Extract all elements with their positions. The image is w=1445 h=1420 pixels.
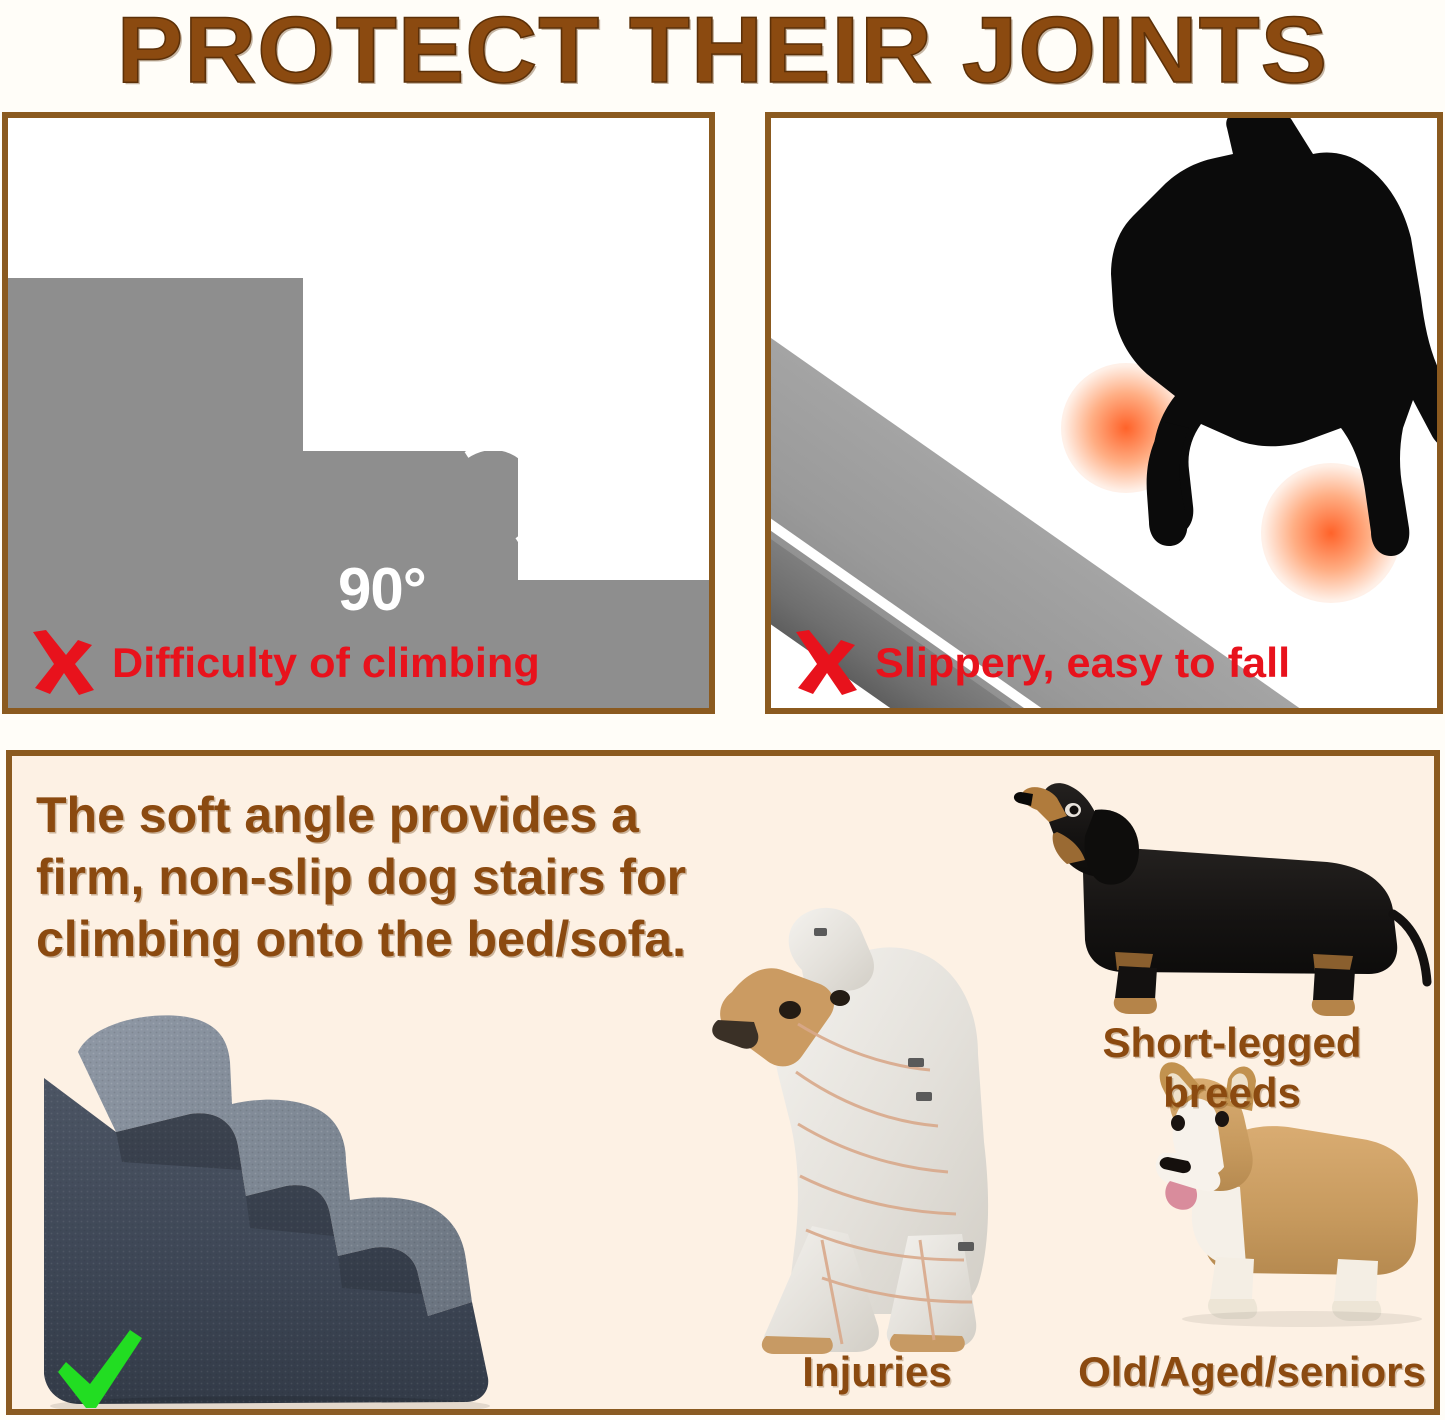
warning-label-slippery: Slippery, easy to fall <box>875 641 1290 685</box>
solution-headline: The soft angle provides a firm, non-slip… <box>36 784 736 970</box>
red-x-icon <box>26 628 100 698</box>
caption-old-aged-seniors: Old/Aged/seniors <box>1057 1348 1440 1396</box>
warning-row-slippery: Slippery, easy to fall <box>789 628 1278 698</box>
product-infographic: PROTECT THEIR JOINTS 90° Difficulty of c… <box>0 0 1445 1420</box>
panel-slippery-easy-to-fall: Slippery, easy to fall <box>765 112 1443 714</box>
green-check-icon <box>52 1326 148 1412</box>
panel-difficulty-of-climbing: 90° Difficulty of climbing <box>2 112 715 714</box>
dog-silhouette-icon <box>951 112 1443 618</box>
dachshund-photo <box>997 776 1437 1016</box>
red-x-icon <box>789 628 863 698</box>
page-title: PROTECT THEIR JOINTS <box>117 3 1328 97</box>
caption-injuries: Injuries <box>712 1348 1042 1396</box>
poster-title-bar: PROTECT THEIR JOINTS <box>0 0 1445 100</box>
warning-row-climbing: Difficulty of climbing <box>26 628 527 698</box>
caption-short-legged-breeds: Short-legged breeds <box>1052 1018 1412 1118</box>
angle-label: 90° <box>338 560 426 620</box>
panel-solution: The soft angle provides a firm, non-slip… <box>6 750 1440 1415</box>
warning-label-climbing: Difficulty of climbing <box>112 641 540 685</box>
